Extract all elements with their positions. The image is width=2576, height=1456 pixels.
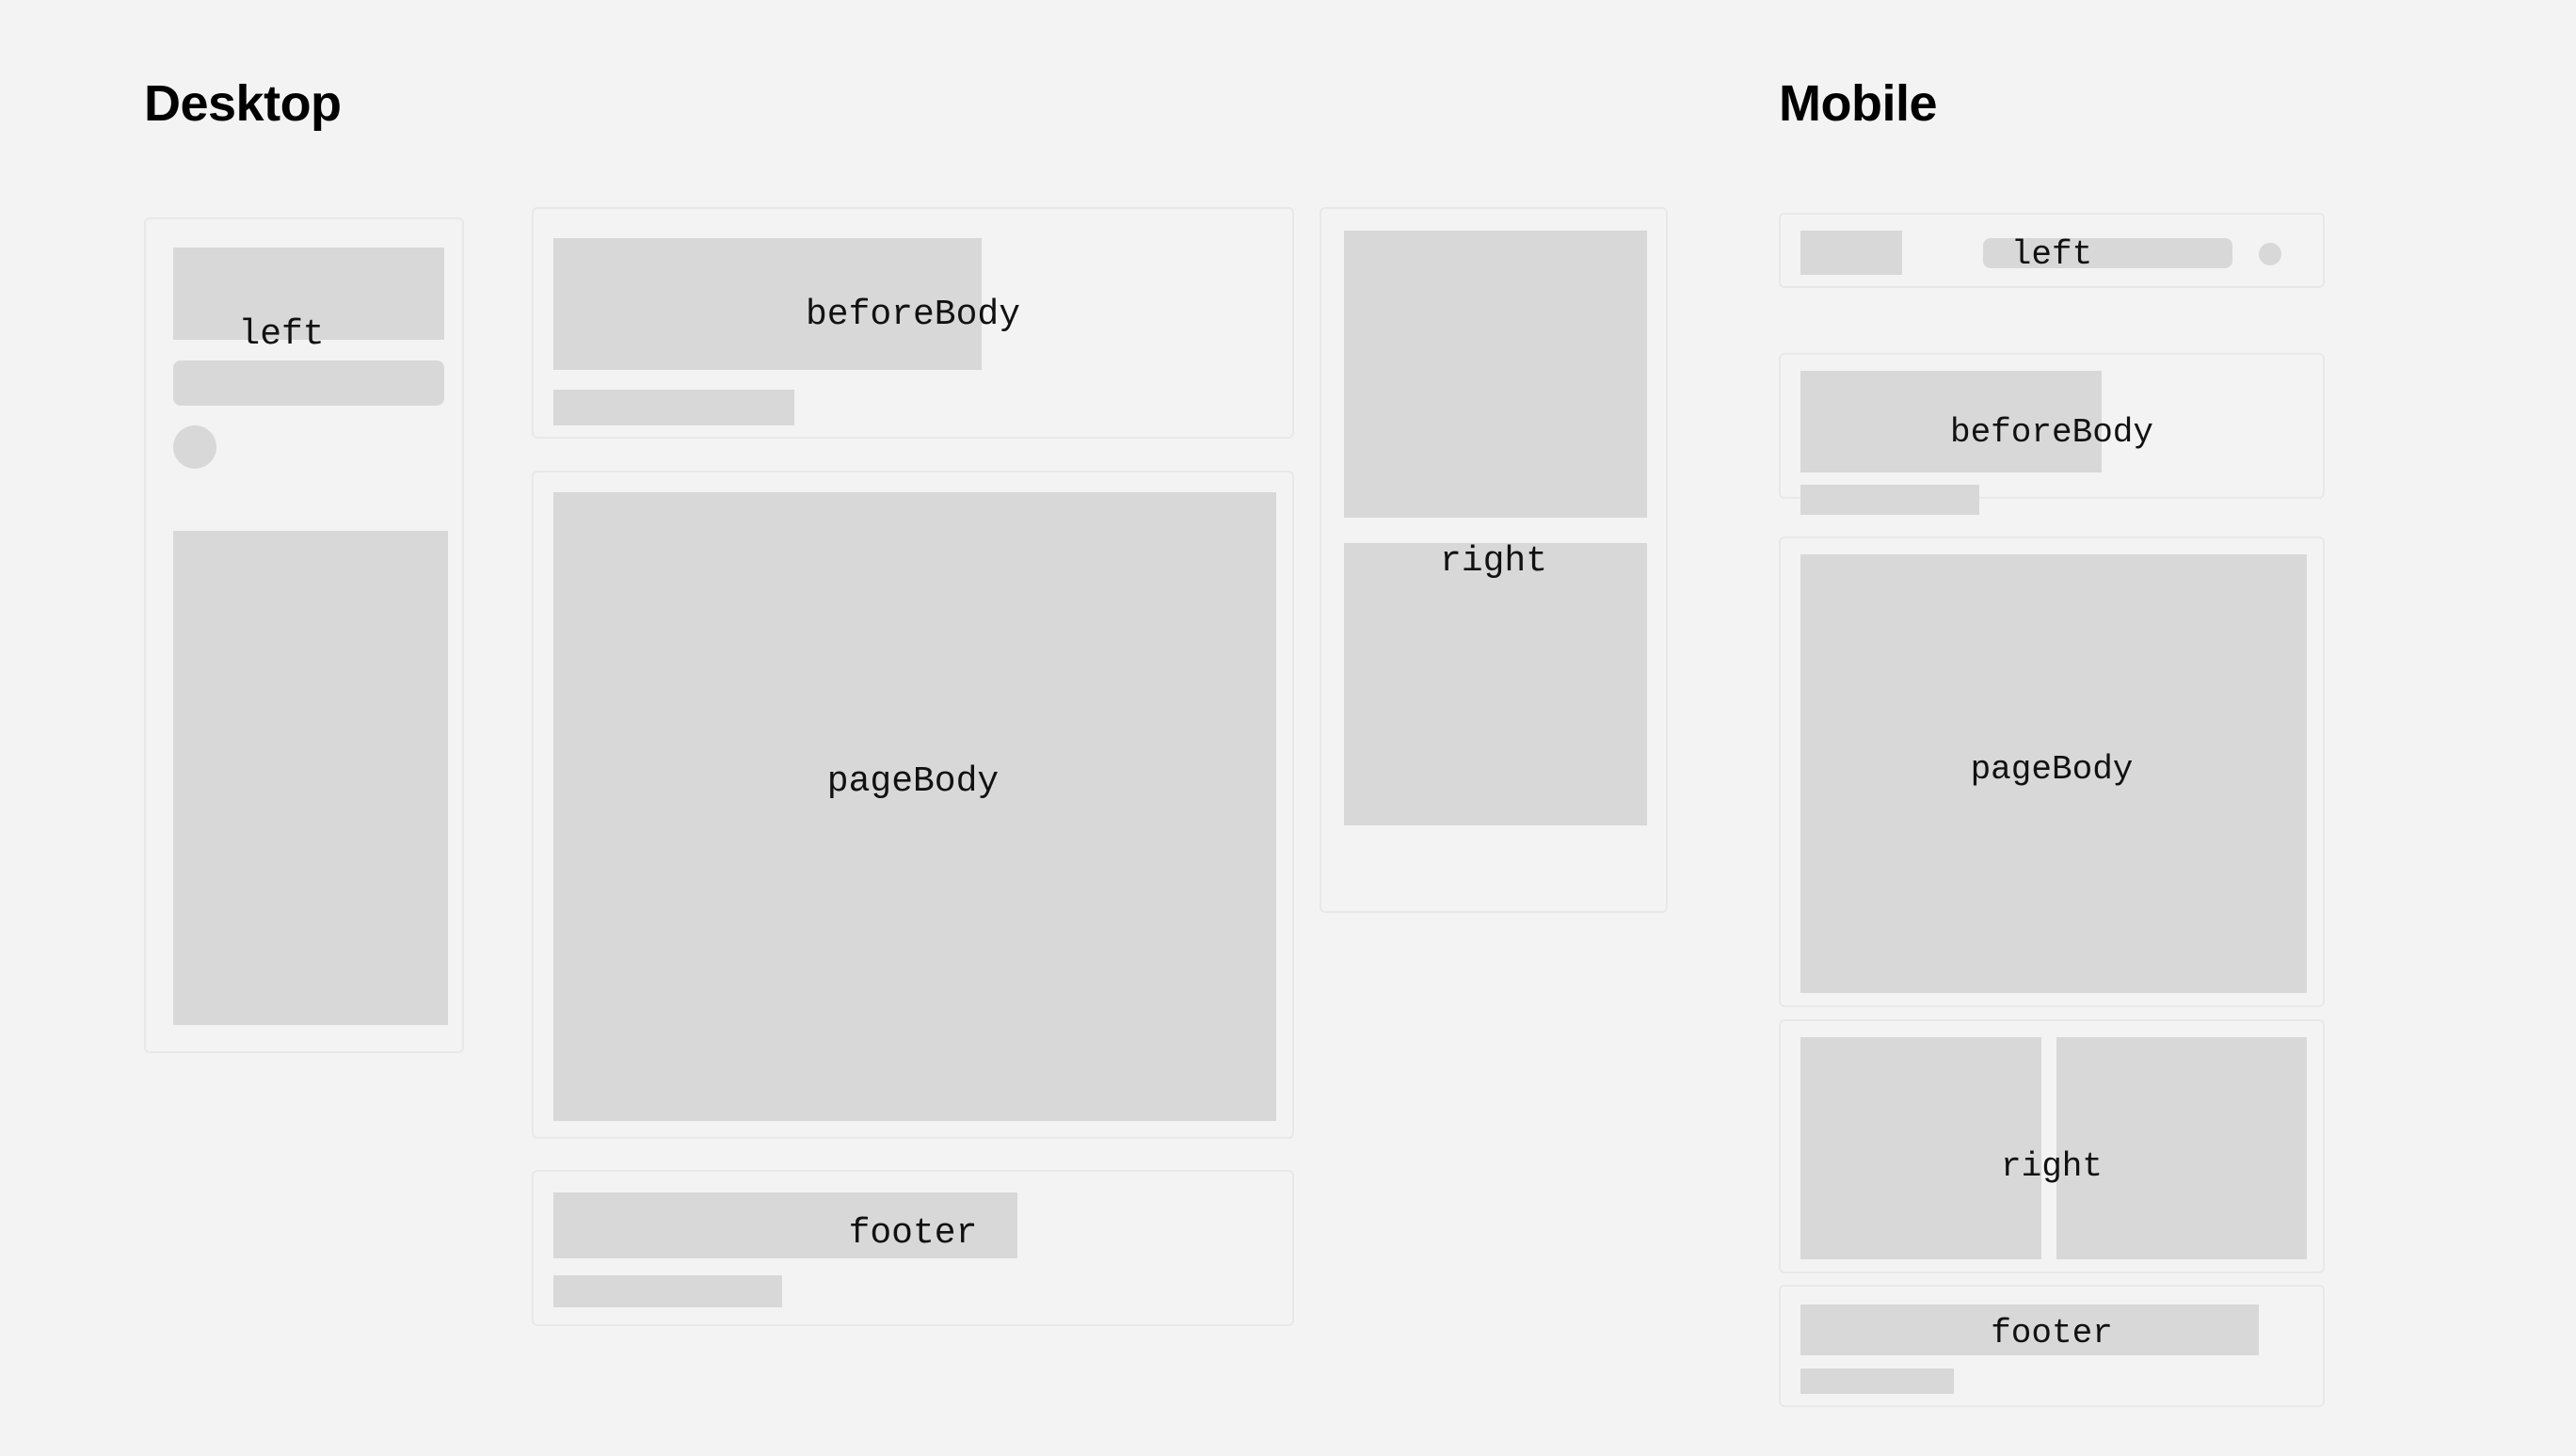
mobile-slot-footer[interactable] <box>1779 1285 2325 1407</box>
mobile-column-title: Mobile <box>1779 78 1937 129</box>
desktop-slot-left[interactable] <box>144 217 464 1053</box>
placeholder-block <box>1800 1304 2259 1355</box>
placeholder-pill <box>173 360 444 406</box>
placeholder-block <box>2056 1037 2307 1259</box>
desktop-slot-before-body[interactable] <box>532 207 1294 439</box>
desktop-slot-footer[interactable] <box>532 1170 1294 1326</box>
placeholder-block <box>1800 1368 1954 1394</box>
placeholder-avatar-circle <box>2259 243 2281 265</box>
placeholder-block <box>1800 371 2102 472</box>
wireframe-preview-canvas: Desktop left beforeBody pageBody footer … <box>0 0 2576 1456</box>
mobile-slot-page-body[interactable] <box>1779 536 2325 1007</box>
mobile-slot-left[interactable] <box>1779 213 2325 288</box>
placeholder-block <box>1800 485 1979 515</box>
placeholder-block <box>553 390 794 425</box>
placeholder-block <box>173 248 444 340</box>
placeholder-block <box>1800 1037 2041 1259</box>
placeholder-block <box>1344 543 1647 825</box>
desktop-slot-page-body[interactable] <box>532 471 1294 1139</box>
placeholder-block <box>1800 231 1902 275</box>
placeholder-pill <box>1983 238 2232 268</box>
placeholder-block <box>553 1192 1017 1258</box>
placeholder-block <box>553 1275 782 1307</box>
mobile-slot-right[interactable] <box>1779 1019 2325 1273</box>
desktop-column-title: Desktop <box>144 78 342 129</box>
placeholder-block <box>553 238 982 370</box>
placeholder-block <box>1344 231 1647 518</box>
placeholder-block <box>1800 554 2307 993</box>
placeholder-block <box>553 492 1276 1121</box>
desktop-slot-right[interactable] <box>1320 207 1668 913</box>
mobile-slot-before-body[interactable] <box>1779 353 2325 499</box>
placeholder-avatar-circle <box>173 425 216 469</box>
placeholder-block <box>173 531 448 1025</box>
